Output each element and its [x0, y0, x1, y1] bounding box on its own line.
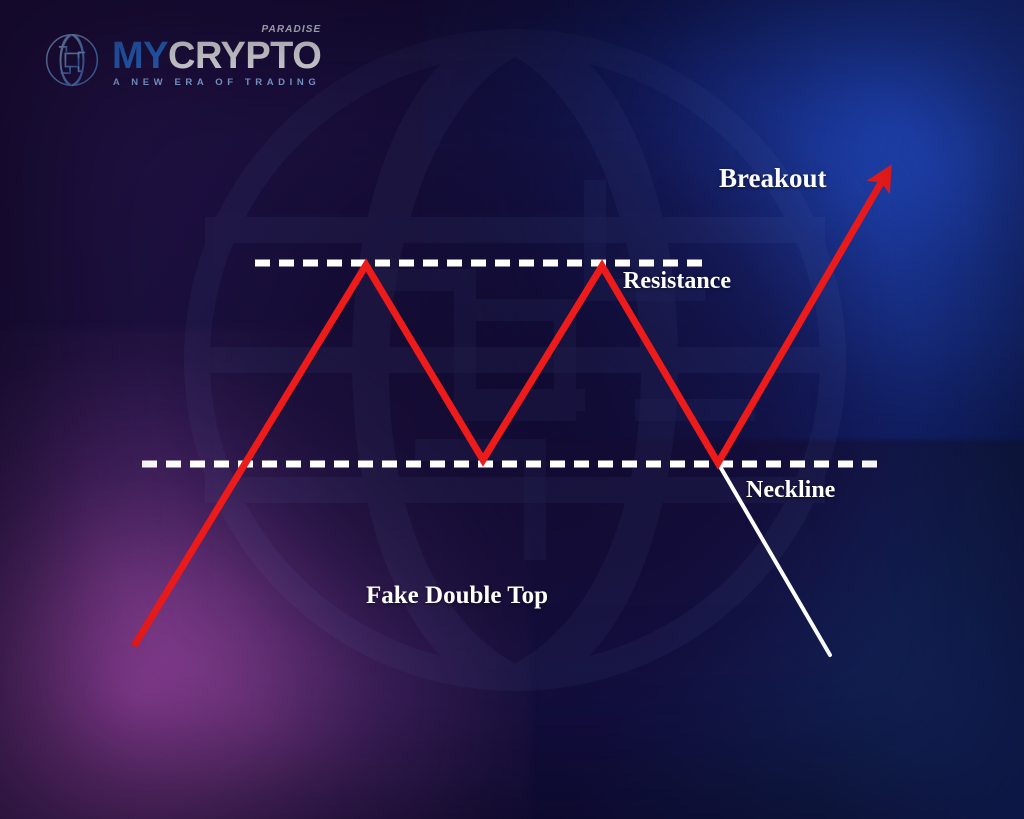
breakout-label: Breakout — [719, 163, 827, 194]
pattern-chart — [0, 0, 1024, 819]
neckline-label: Neckline — [746, 477, 835, 504]
resistance-label: Resistance — [623, 268, 731, 295]
price-action-line — [134, 176, 885, 646]
infographic-canvas: PARADISE MYCRYPTO A NEW ERA OF TRADING B… — [0, 0, 1024, 819]
pattern-title: Fake Double Top — [366, 582, 548, 610]
